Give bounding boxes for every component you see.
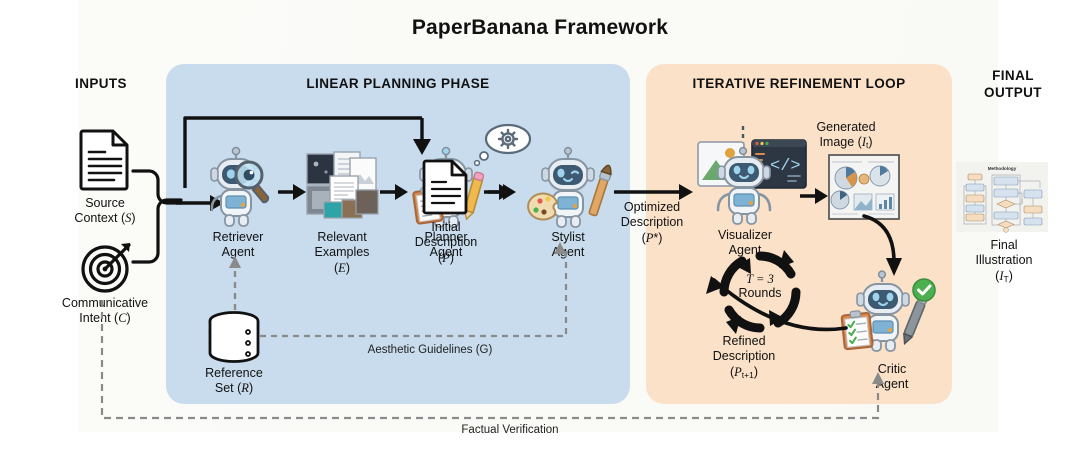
final-output-line2: OUTPUT: [984, 85, 1042, 100]
page-title: PaperBanana Framework: [0, 16, 1080, 40]
edge-label-factual-verification: Factual Verification: [380, 424, 640, 436]
node-label-generated-image: GeneratedImage (It): [786, 120, 906, 151]
robot-magnifier-icon-retriever-agent: [196, 146, 280, 230]
dashed-path-factual-verification: [100, 298, 890, 422]
document-icon-initial-description: [422, 158, 470, 214]
arrow-visualizer-to-generated-image: [798, 186, 830, 206]
svg-text:</>: </>: [770, 157, 801, 176]
column-title-final-output: FINAL OUTPUT: [958, 68, 1068, 102]
document-icon-source-context: [78, 128, 132, 190]
document-stack-icon-relevant-examples: [304, 150, 380, 226]
node-label-final-illustration: Final Illustration (IT): [952, 238, 1056, 284]
panel-title-iterative-refinement: ITERATIVE REFINEMENT LOOP: [646, 76, 952, 91]
flowchart-thumbnail-icon-final-illustration: Methodology: [956, 162, 1048, 232]
robot-palette-brush-icon-stylist-agent: [524, 148, 614, 232]
edge-label-optimized-description: Optimized Description (P*): [604, 200, 700, 246]
chart-thumbnail-icon-generated-image: [828, 154, 900, 220]
arrow-description-to-stylist: [482, 182, 514, 202]
figure-canvas: PaperBanana Framework LINEAR PLANNING PH…: [0, 0, 1080, 462]
column-title-inputs: INPUTS: [36, 76, 166, 93]
arrow-stylist-to-visualizer: [612, 182, 696, 202]
panel-title-linear-planning: LINEAR PLANNING PHASE: [166, 76, 630, 91]
final-output-line1: FINAL: [992, 68, 1034, 83]
target-icon-communicative-intent: [80, 238, 136, 294]
svg-text:Methodology: Methodology: [988, 166, 1017, 171]
